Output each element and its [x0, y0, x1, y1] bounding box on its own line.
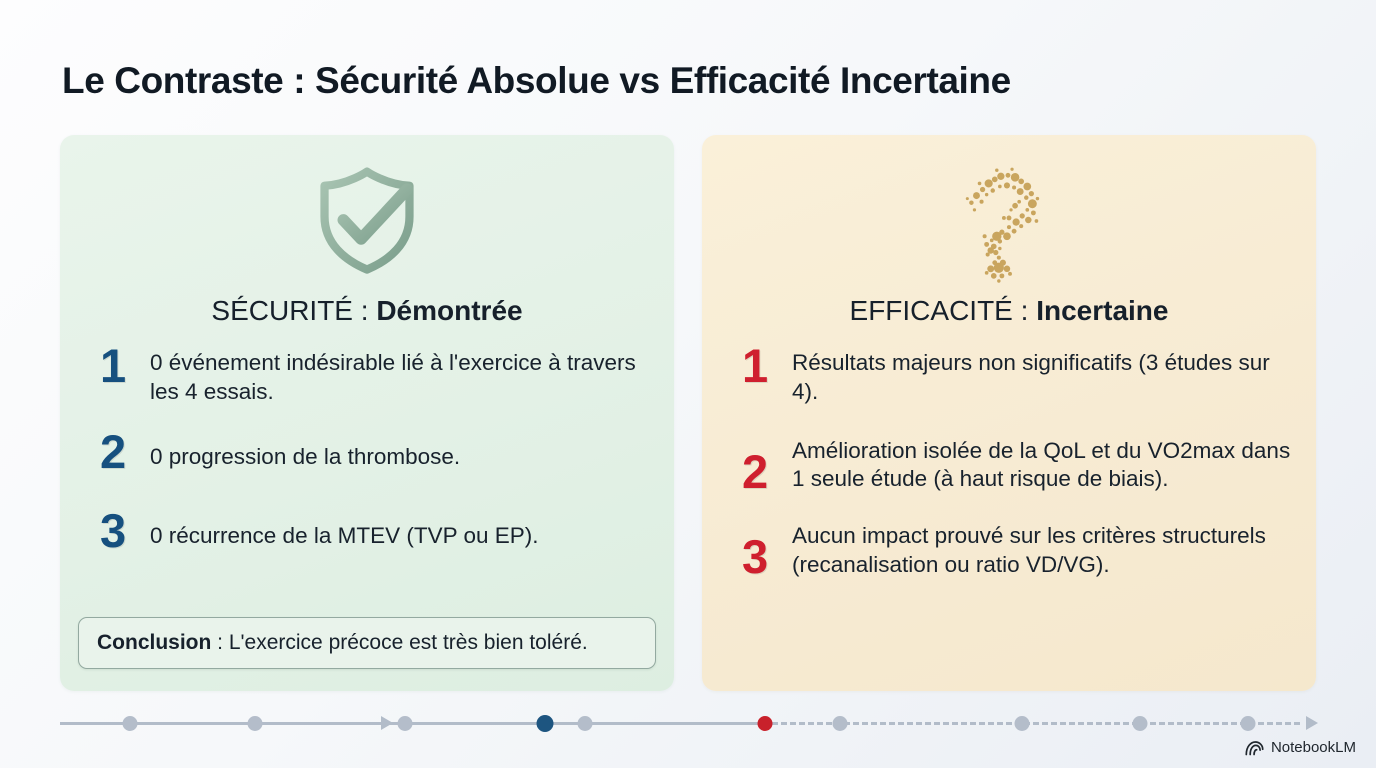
question-mark-dots-icon-wrap — [702, 155, 1316, 285]
page-title: Le Contraste : Sécurité Absolue vs Effic… — [62, 60, 1011, 102]
slide-progress-timeline[interactable] — [60, 712, 1316, 734]
list-item-text: 0 récurrence de la MTEV (TVP ou EP). — [150, 508, 650, 551]
panel-right-heading-strong: Incertaine — [1036, 295, 1168, 326]
timeline-dot-gray[interactable] — [578, 716, 593, 731]
timeline-dot-gray[interactable] — [1015, 716, 1030, 731]
notebooklm-brand: NotebookLM — [1245, 739, 1356, 756]
list-item-text: Aucun impact prouvé sur les critères str… — [792, 516, 1292, 580]
list-item-number: 1 — [92, 343, 150, 388]
list-item-text: Résultats majeurs non significatifs (3 é… — [792, 343, 1292, 407]
question-mark-dots-icon — [948, 157, 1070, 283]
panel-left-heading: SÉCURITÉ : Démontrée — [60, 295, 674, 327]
list-item-text: 0 événement indésirable lié à l'exercice… — [150, 343, 650, 407]
list-item-number: 2 — [734, 431, 792, 494]
timeline-dot-gray[interactable] — [1133, 716, 1148, 731]
timeline-line-solid — [60, 722, 772, 725]
timeline-dot-red[interactable] — [758, 716, 773, 731]
list-item: 3 0 récurrence de la MTEV (TVP ou EP). — [92, 508, 650, 553]
panel-right-heading: EFFICACITÉ : Incertaine — [702, 295, 1316, 327]
conclusion-box: Conclusion : L'exercice précoce est très… — [78, 617, 656, 669]
panel-left-heading-plain: SÉCURITÉ : — [211, 295, 376, 326]
panel-efficacite: EFFICACITÉ : Incertaine 1 Résultats maje… — [702, 135, 1316, 691]
list-item-number: 3 — [92, 508, 150, 553]
timeline-dot-gray[interactable] — [248, 716, 263, 731]
timeline-line-dashed — [772, 722, 1300, 725]
conclusion-label: Conclusion — [97, 631, 211, 654]
conclusion-text: : L'exercice précoce est très bien tolér… — [211, 631, 587, 654]
list-item: 3 Aucun impact prouvé sur les critères s… — [734, 516, 1292, 580]
list-item-number: 2 — [92, 429, 150, 474]
timeline-arrow-icon[interactable] — [381, 716, 393, 730]
shield-check-icon — [308, 161, 426, 279]
list-item-text: Amélioration isolée de la QoL et du VO2m… — [792, 431, 1292, 495]
timeline-dot-gray[interactable] — [1241, 716, 1256, 731]
shield-check-icon-wrap — [60, 155, 674, 285]
timeline-dot-gray[interactable] — [123, 716, 138, 731]
panel-left-list: 1 0 événement indésirable lié à l'exerci… — [92, 343, 650, 553]
panel-right-heading-plain: EFFICACITÉ : — [850, 295, 1037, 326]
panel-securite: SÉCURITÉ : Démontrée 1 0 événement indés… — [60, 135, 674, 691]
panel-right-list: 1 Résultats majeurs non significatifs (3… — [734, 343, 1292, 594]
timeline-dot-navy[interactable] — [537, 715, 554, 732]
notebooklm-spiral-icon — [1245, 740, 1264, 756]
list-item-number: 1 — [734, 343, 792, 388]
timeline-dot-gray[interactable] — [398, 716, 413, 731]
timeline-dot-gray[interactable] — [833, 716, 848, 731]
list-item-text: 0 progression de la thrombose. — [150, 429, 650, 472]
list-item: 2 0 progression de la thrombose. — [92, 429, 650, 474]
list-item: 1 Résultats majeurs non significatifs (3… — [734, 343, 1292, 407]
timeline-arrow-icon[interactable] — [1306, 716, 1318, 730]
list-item-number: 3 — [734, 516, 792, 579]
panel-left-heading-strong: Démontrée — [376, 295, 522, 326]
brand-name: NotebookLM — [1271, 739, 1356, 756]
list-item: 1 0 événement indésirable lié à l'exerci… — [92, 343, 650, 407]
list-item: 2 Amélioration isolée de la QoL et du VO… — [734, 431, 1292, 495]
